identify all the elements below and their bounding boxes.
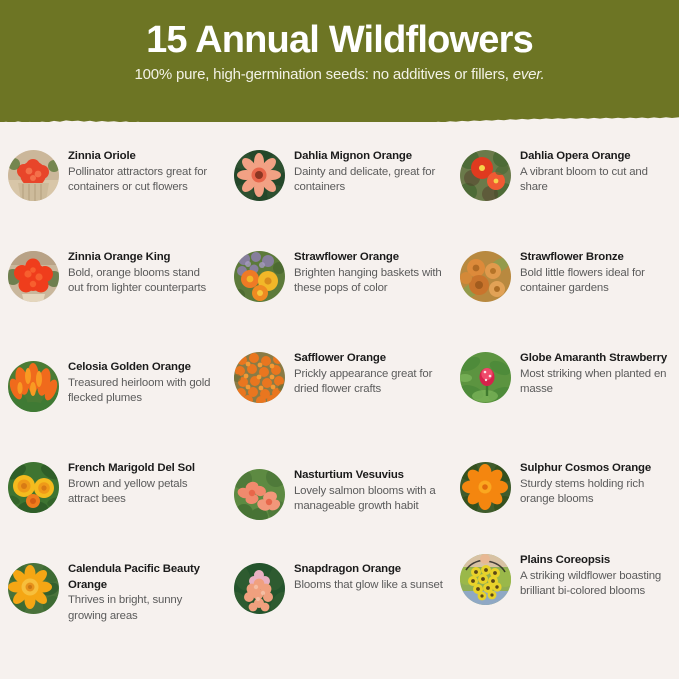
french-marigold-del-sol-photo [8,462,59,513]
grid-cell-r1c2: Dahlia Mignon Orange Dainty and delicate… [226,148,452,249]
grid-cell-r5c1: Calendula Pacific Beauty Orange Thrives … [0,552,226,653]
page-subtitle: 100% pure, high-germination seeds: no ad… [0,65,679,85]
item-copy: Dahlia Mignon Orange Dainty and delicate… [294,148,444,196]
item-description: Pollinator attractors great for containe… [68,165,218,196]
item-copy: Strawflower Orange Brighten hanging bask… [294,249,444,297]
grid-cell-r4c2: Nasturtium Vesuvius Lovely salmon blooms… [226,451,452,552]
item-title: French Marigold Del Sol [68,461,218,477]
item-description: Most striking when planted en masse [520,367,671,398]
subtitle-lead-text: 100% pure, high-germination seeds: no ad… [134,66,512,83]
strawflower-orange-photo [234,251,285,302]
item-description: Brown and yellow petals attract bees [68,477,218,508]
list-item[interactable]: Safflower Orange Prickly appearance grea… [234,350,444,403]
list-item[interactable]: Strawflower Bronze Bold little flowers i… [460,249,671,302]
item-title: Celosia Golden Orange [68,360,218,376]
item-title: Strawflower Bronze [520,250,671,266]
list-item[interactable]: Nasturtium Vesuvius Lovely salmon blooms… [234,467,444,520]
celosia-golden-orange-photo [8,361,59,412]
list-item[interactable]: Zinnia Oriole Pollinator attractors grea… [8,148,218,201]
grid-cell-r1c3: Dahlia Opera Orange A vibrant bloom to c… [452,148,679,249]
dahlia-mignon-orange-photo [234,150,285,201]
list-item[interactable]: Zinnia Orange King Bold, orange blooms s… [8,249,218,302]
nasturtium-vesuvius-photo [234,469,285,520]
item-copy: Zinnia Oriole Pollinator attractors grea… [68,148,218,196]
item-title: Calendula Pacific Beauty Orange [68,562,218,593]
item-title: Zinnia Orange King [68,250,218,266]
dahlia-opera-orange-photo [460,150,511,201]
globe-amaranth-strawberry-photo [460,352,511,403]
list-item[interactable]: Strawflower Orange Brighten hanging bask… [234,249,444,302]
item-title: Dahlia Mignon Orange [294,149,444,165]
grid-cell-r2c2: Strawflower Orange Brighten hanging bask… [226,249,452,350]
item-title: Zinnia Oriole [68,149,218,165]
grid-cell-r3c3: Globe Amaranth Strawberry Most striking … [452,350,679,451]
grid-cell-r5c3: Plains Coreopsis A striking wildflower b… [452,552,679,653]
item-copy: Sulphur Cosmos Orange Sturdy stems holdi… [520,460,671,508]
item-title: Plains Coreopsis [520,553,671,569]
grid-cell-r1c1: Zinnia Oriole Pollinator attractors grea… [0,148,226,249]
item-description: Thrives in bright, sunny growing areas [68,593,218,624]
item-description: Sturdy stems holding rich orange blooms [520,477,671,508]
item-copy: Celosia Golden Orange Treasured heirloom… [68,359,218,407]
list-item[interactable]: Dahlia Mignon Orange Dainty and delicate… [234,148,444,201]
grid-cell-r3c2: Safflower Orange Prickly appearance grea… [226,350,452,451]
item-description: Bold, orange blooms stand out from light… [68,266,218,297]
page-title: 15 Annual Wildflowers [0,19,679,62]
item-title: Nasturtium Vesuvius [294,468,444,484]
plains-coreopsis-photo [460,554,511,605]
item-description: Brighten hanging baskets with these pops… [294,266,444,297]
strawflower-bronze-photo [460,251,511,302]
subtitle-emphasis-text: ever. [513,66,545,83]
item-title: Strawflower Orange [294,250,444,266]
header-text-block: 15 Annual Wildflowers 100% pure, high-ge… [0,0,679,84]
item-description: Lovely salmon blooms with a manageable g… [294,484,444,515]
item-copy: Strawflower Bronze Bold little flowers i… [520,249,671,297]
grid-cell-r5c2: Snapdragon Orange Blooms that glow like … [226,552,452,653]
zinnia-oriole-photo [8,150,59,201]
list-item[interactable]: French Marigold Del Sol Brown and yellow… [8,460,218,513]
wildflower-seed-poster: 15 Annual Wildflowers 100% pure, high-ge… [0,0,679,679]
grid-cell-r3c1: Celosia Golden Orange Treasured heirloom… [0,350,226,451]
item-title: Sulphur Cosmos Orange [520,461,671,477]
grid-cell-r2c1: Zinnia Orange King Bold, orange blooms s… [0,249,226,350]
item-description: A striking wildflower boasting brilliant… [520,569,671,600]
item-copy: Globe Amaranth Strawberry Most striking … [520,350,671,398]
list-item[interactable]: Plains Coreopsis A striking wildflower b… [460,552,671,605]
safflower-orange-photo [234,352,285,403]
item-copy: Zinnia Orange King Bold, orange blooms s… [68,249,218,297]
item-copy: Plains Coreopsis A striking wildflower b… [520,552,671,600]
item-copy: Calendula Pacific Beauty Orange Thrives … [68,561,218,625]
snapdragon-orange-photo [234,563,285,614]
list-item[interactable]: Dahlia Opera Orange A vibrant bloom to c… [460,148,671,201]
item-copy: Snapdragon Orange Blooms that glow like … [294,561,444,593]
item-description: Bold little flowers ideal for container … [520,266,671,297]
item-title: Dahlia Opera Orange [520,149,671,165]
list-item[interactable]: Globe Amaranth Strawberry Most striking … [460,350,671,403]
list-item[interactable]: Calendula Pacific Beauty Orange Thrives … [8,561,218,625]
item-copy: French Marigold Del Sol Brown and yellow… [68,460,218,508]
grid-cell-r4c1: French Marigold Del Sol Brown and yellow… [0,451,226,552]
item-copy: Dahlia Opera Orange A vibrant bloom to c… [520,148,671,196]
item-copy: Nasturtium Vesuvius Lovely salmon blooms… [294,467,444,515]
list-item[interactable]: Celosia Golden Orange Treasured heirloom… [8,359,218,412]
grid-cell-r4c3: Sulphur Cosmos Orange Sturdy stems holdi… [452,451,679,552]
wildflower-grid: Zinnia Oriole Pollinator attractors grea… [0,148,679,679]
item-title: Globe Amaranth Strawberry [520,351,671,367]
item-description: Blooms that glow like a sunset [294,578,444,594]
item-description: Prickly appearance great for dried flowe… [294,367,444,398]
item-description: Treasured heirloom with gold flecked plu… [68,376,218,407]
item-copy: Safflower Orange Prickly appearance grea… [294,350,444,398]
zinnia-orange-king-photo [8,251,59,302]
poster-header: 15 Annual Wildflowers 100% pure, high-ge… [0,0,679,122]
grid-cell-r2c3: Strawflower Bronze Bold little flowers i… [452,249,679,350]
item-description: Dainty and delicate, great for container… [294,165,444,196]
list-item[interactable]: Sulphur Cosmos Orange Sturdy stems holdi… [460,460,671,513]
item-title: Safflower Orange [294,351,444,367]
item-description: A vibrant bloom to cut and share [520,165,671,196]
list-item[interactable]: Snapdragon Orange Blooms that glow like … [234,561,444,614]
item-title: Snapdragon Orange [294,562,444,578]
sulphur-cosmos-orange-photo [460,462,511,513]
calendula-pacific-beauty-orange-photo [8,563,59,614]
